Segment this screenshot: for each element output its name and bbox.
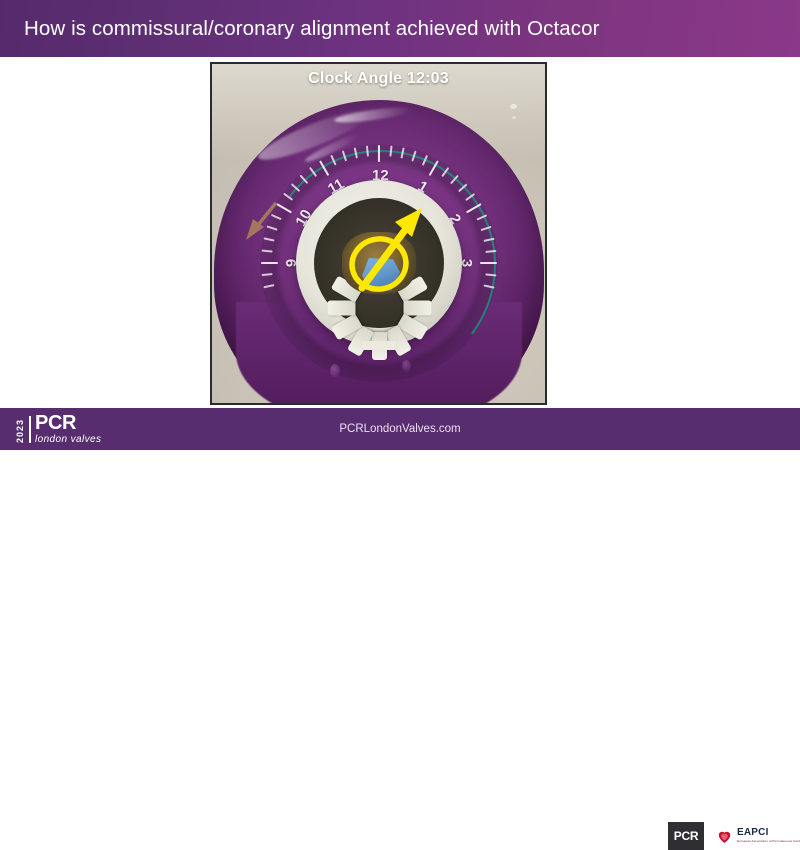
eapci-label: EAPCI xyxy=(737,828,800,838)
octacor-device: 9101112123 xyxy=(210,96,547,405)
slide-footer: 2023 PCR london valves PCRLondonValves.c… xyxy=(0,408,800,450)
logo-subtitle: london valves xyxy=(35,434,101,445)
clock-angle-photo: 9101112123 Clock Angle 12:03 xyxy=(210,62,547,405)
eapci-partner-logo: EAPCI European Association of Percutaneo… xyxy=(712,822,786,850)
footer-url[interactable]: PCRLondonValves.com xyxy=(0,423,800,435)
slide: How is commissural/coronary alignment ac… xyxy=(0,0,800,450)
tick-mark xyxy=(378,145,380,162)
page-title: How is commissural/coronary alignment ac… xyxy=(24,17,600,41)
photo-caption: Clock Angle 12:03 xyxy=(212,70,545,88)
heart-icon xyxy=(716,828,733,845)
tick-mark xyxy=(480,262,497,264)
pcr-partner-label: PCR xyxy=(674,829,698,843)
tick-mark xyxy=(261,262,278,264)
valve-strut xyxy=(403,300,431,315)
clock-dial: 9101112123 xyxy=(260,144,498,382)
valve-strut xyxy=(327,300,355,315)
pcr-partner-logo: PCR xyxy=(668,822,704,850)
valve-notch xyxy=(362,341,396,350)
slide-header: How is commissural/coronary alignment ac… xyxy=(0,0,800,57)
eapci-sublabel: European Association of Percutaneous Car… xyxy=(737,840,800,843)
